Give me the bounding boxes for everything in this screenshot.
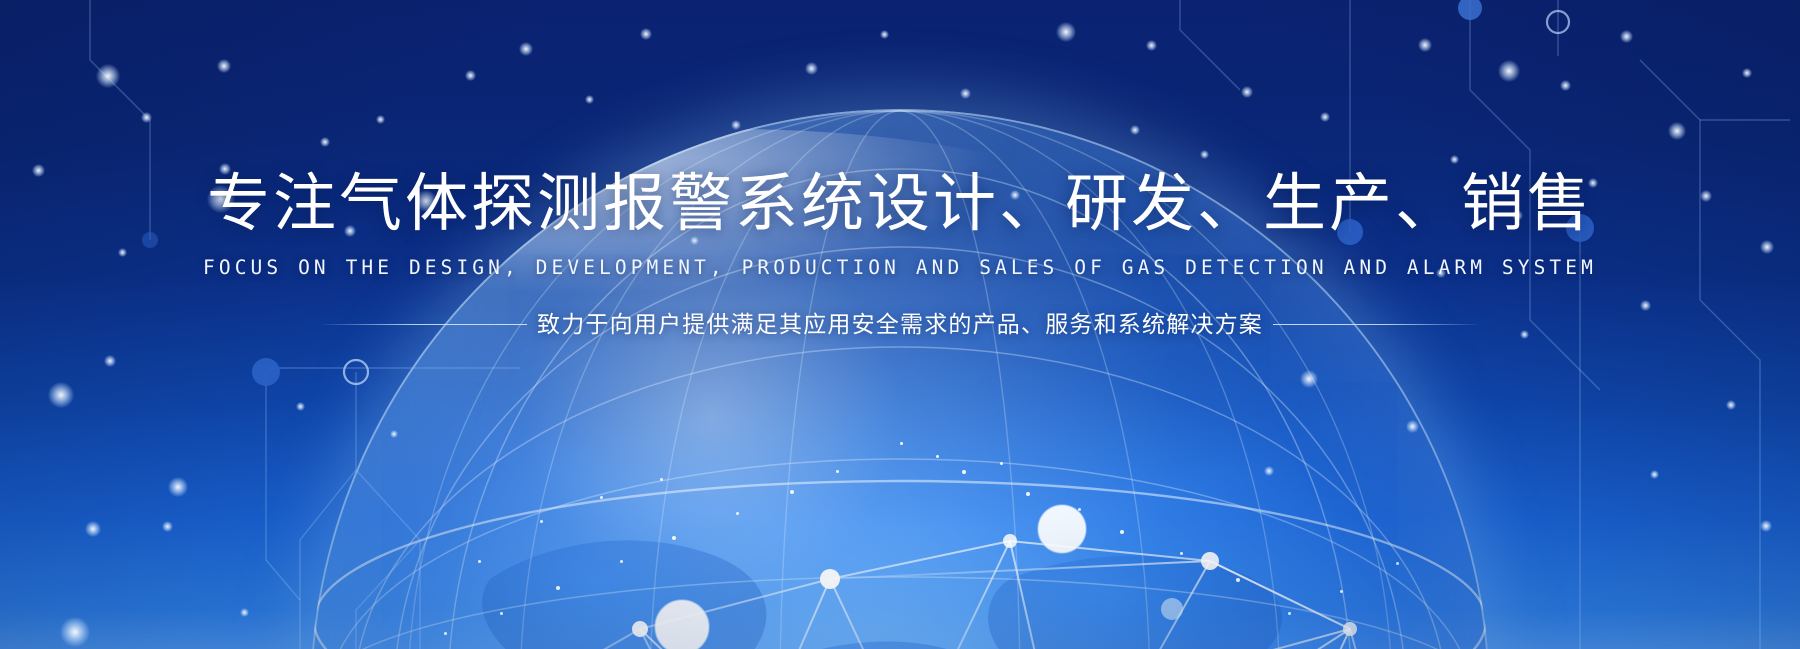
page-title: 专注气体探测报警系统设计、研发、生产、销售 <box>0 166 1800 242</box>
tagline-row: 致力于向用户提供满足其应用安全需求的产品、服务和系统解决方案 <box>0 309 1800 339</box>
banner-content: 专注气体探测报警系统设计、研发、生产、销售 FOCUS ON THE DESIG… <box>0 0 1800 339</box>
tagline-rule-left <box>322 324 527 325</box>
page-subtitle-english: FOCUS ON THE DESIGN, DEVELOPMENT, PRODUC… <box>0 255 1800 281</box>
tagline-text: 致力于向用户提供满足其应用安全需求的产品、服务和系统解决方案 <box>533 309 1267 339</box>
tagline-rule-right <box>1273 324 1478 325</box>
hero-banner: 专注气体探测报警系统设计、研发、生产、销售 FOCUS ON THE DESIG… <box>0 0 1800 649</box>
